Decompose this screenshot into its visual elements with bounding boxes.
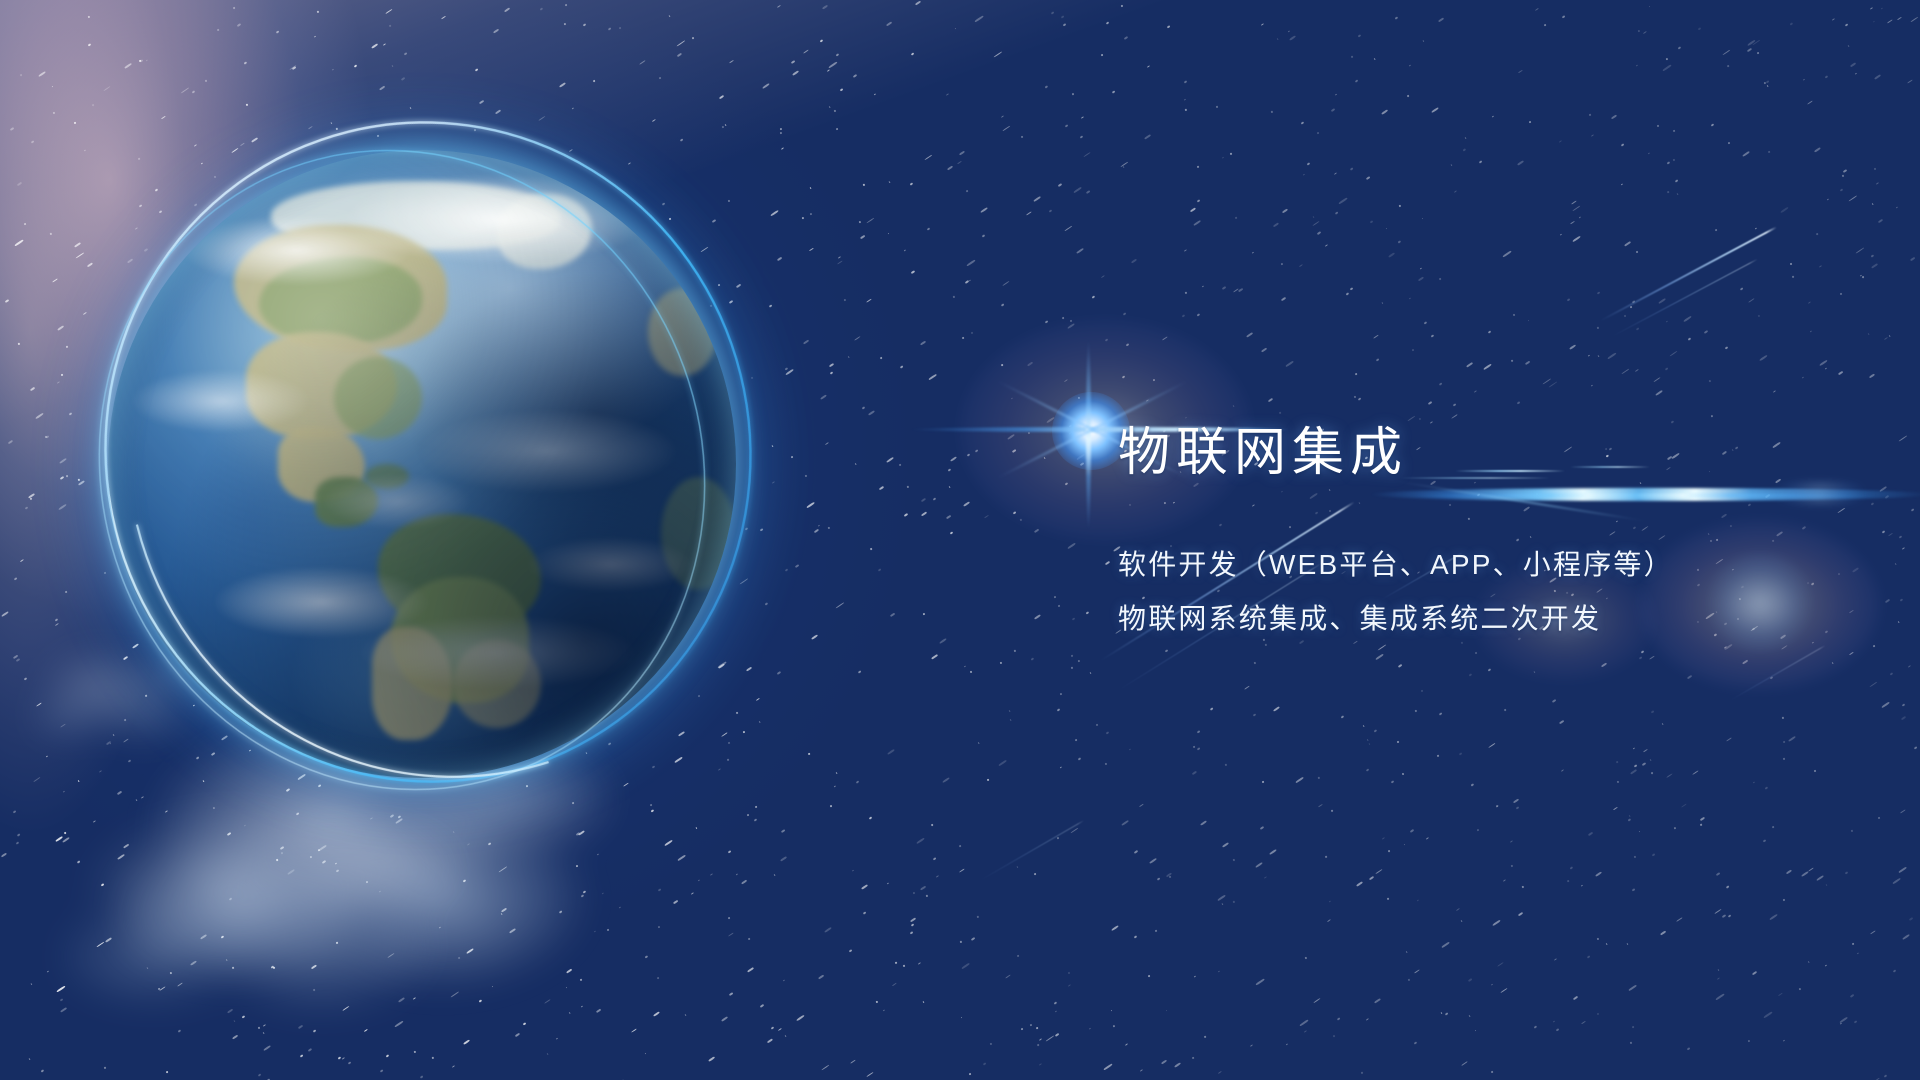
banner-text-block: 物联网集成 软件开发（WEB平台、APP、小程序等） 物联网系统集成、集成系统二… [1118,418,1674,646]
page-title: 物联网集成 [1118,418,1674,488]
globe-limb-highlight [108,150,736,778]
earth-globe-icon [108,150,736,778]
lens-flare-ghost-right-icon [1760,482,1880,504]
banner-stage: 物联网集成 软件开发（WEB平台、APP、小程序等） 物联网系统集成、集成系统二… [0,0,1920,1080]
globe-sphere [108,150,736,778]
title-subtitle-spacer [1118,488,1674,538]
lens-flare-vertical-beam-icon [1086,340,1091,530]
subtitle-line-1: 软件开发（WEB平台、APP、小程序等） [1118,538,1674,592]
lens-flare-ghost-warm-icon [1705,552,1815,652]
subtitle-line-2: 物联网系统集成、集成系统二次开发 [1118,592,1674,646]
